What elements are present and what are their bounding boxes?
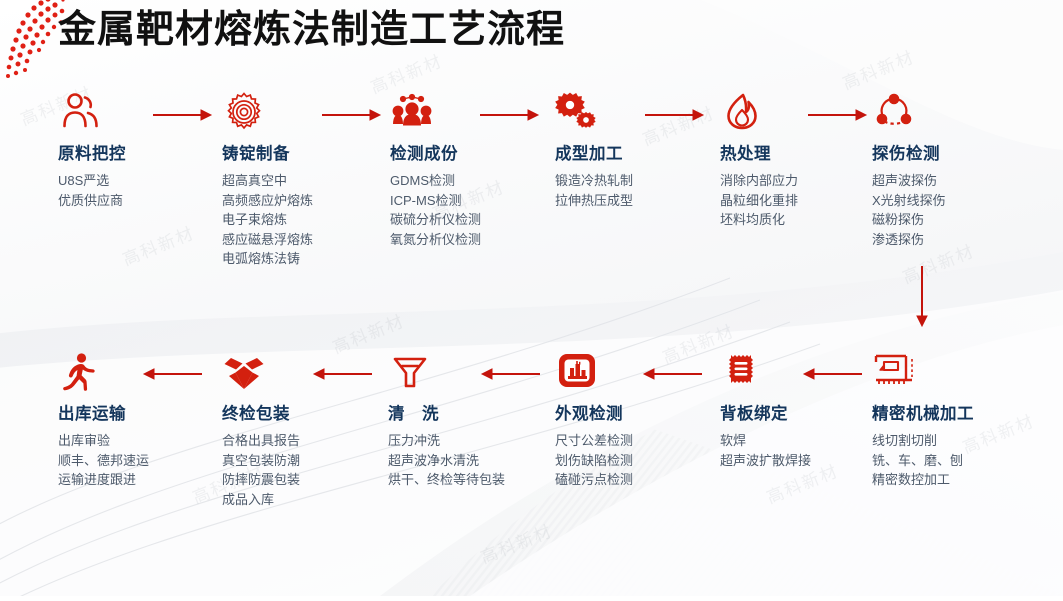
node-item-list: 超高真空中 高频感应炉熔炼 电子束熔炼 感应磁悬浮熔炼 电弧熔炼法铸 (222, 171, 374, 269)
list-item: 超声波探伤 (872, 171, 1022, 191)
users-icon (58, 90, 208, 134)
node-item-list: GDMS检测 ICP-MS检测 碳硫分析仪检测 氧氮分析仪检测 (390, 171, 540, 249)
node-item-list: 超声波探伤 X光射线探伤 磁粉探伤 渗透探伤 (872, 171, 1022, 249)
list-item: 合格出具报告 (222, 431, 372, 451)
flow-node-heat-treatment[interactable]: 热处理 消除内部应力 晶粒细化重排 坯料均质化 (720, 90, 870, 230)
list-item: 坯料均质化 (720, 210, 870, 230)
list-item: 晶粒细化重排 (720, 191, 870, 211)
list-item: 超声波净水清洗 (388, 451, 513, 471)
node-title: 外观检测 (555, 400, 705, 424)
page-title: 金属靶材熔炼法制造工艺流程 (58, 5, 565, 55)
list-item: ICP-MS检测 (390, 191, 540, 211)
node-item-list: 线切割切削 铣、车、磨、刨 精密数控加工 (872, 431, 1032, 490)
list-item: 磁粉探伤 (872, 210, 1022, 230)
list-item: 消除内部应力 (720, 171, 870, 191)
flow-node-final-inspection-packing[interactable]: 终检包装 合格出具报告 真空包装防潮 防摔防震包装 成品入库 (222, 350, 372, 509)
node-title: 铸锭制备 (222, 140, 374, 164)
list-item: 碳硫分析仪检测 (390, 210, 540, 230)
flow-node-backplate-bonding[interactable]: 背板绑定 软焊 超声波扩散焊接 (720, 350, 870, 470)
node-item-list: 锻造冷热轧制 拉伸热压成型 (555, 171, 705, 210)
list-item: 线切割切削 (872, 431, 1032, 451)
flow-node-cleaning[interactable]: 清 洗 压力冲洗 超声波净水清洗 烘干、终检等待包装 (388, 350, 513, 490)
node-title: 探伤检测 (872, 140, 1022, 164)
list-item: 高频感应炉熔炼 (222, 191, 374, 211)
node-item-list: 合格出具报告 真空包装防潮 防摔防震包装 成品入库 (222, 431, 372, 509)
flow-node-raw-material-control[interactable]: 原料把控 U8S严选 优质供应商 (58, 90, 208, 210)
list-item: 感应磁悬浮熔炼 (222, 230, 374, 250)
list-item: 运输进度跟进 (58, 470, 208, 490)
watermark: 高科新材 (838, 43, 918, 95)
three-dot-molecule-icon (872, 90, 1022, 134)
arrow-down-connector (915, 266, 929, 328)
list-item: 磕碰污点检测 (555, 470, 705, 490)
node-item-list: 压力冲洗 超声波净水清洗 烘干、终检等待包装 (388, 431, 513, 490)
stamp-icon (720, 350, 870, 394)
list-item: U8S严选 (58, 171, 208, 191)
list-item: 防摔防震包装 (222, 470, 372, 490)
list-item: 电子束熔炼 (222, 210, 374, 230)
node-item-list: 消除内部应力 晶粒细化重排 坯料均质化 (720, 171, 870, 230)
flow-node-ingot-preparation[interactable]: 铸锭制备 超高真空中 高频感应炉熔炼 电子束熔炼 感应磁悬浮熔炼 电弧熔炼法铸 (222, 90, 374, 269)
list-item: 顺丰、德邦速运 (58, 451, 208, 471)
list-item: 拉伸热压成型 (555, 191, 705, 211)
list-item: 划伤缺陷检测 (555, 451, 705, 471)
double-gear-icon (555, 90, 705, 134)
node-title: 原料把控 (58, 140, 208, 164)
flow-node-appearance-inspection[interactable]: 外观检测 尺寸公差检测 划伤缺陷检测 磕碰污点检测 (555, 350, 705, 490)
list-item: X光射线探伤 (872, 191, 1022, 211)
running-person-icon (58, 350, 208, 394)
node-title: 终检包装 (222, 400, 372, 424)
open-box-icon (222, 350, 372, 394)
flow-node-precision-machining[interactable]: 精密机械加工 线切割切削 铣、车、磨、刨 精密数控加工 (872, 350, 1032, 490)
flow-node-flaw-detection[interactable]: 探伤检测 超声波探伤 X光射线探伤 磁粉探伤 渗透探伤 (872, 90, 1022, 249)
list-item: 渗透探伤 (872, 230, 1022, 250)
flow-node-composition-test[interactable]: 检测成份 GDMS检测 ICP-MS检测 碳硫分析仪检测 氧氮分析仪检测 (390, 90, 540, 249)
list-item: 成品入库 (222, 490, 372, 510)
list-item: GDMS检测 (390, 171, 540, 191)
list-item: 优质供应商 (58, 191, 208, 211)
node-item-list: U8S严选 优质供应商 (58, 171, 208, 210)
funnel-icon (388, 350, 513, 394)
list-item: 超高真空中 (222, 171, 374, 191)
node-title: 出库运输 (58, 400, 208, 424)
node-item-list: 出库审验 顺丰、德邦速运 运输进度跟进 (58, 431, 208, 490)
list-item: 精密数控加工 (872, 470, 1032, 490)
node-title: 热处理 (720, 140, 870, 164)
list-item: 真空包装防潮 (222, 451, 372, 471)
list-item: 超声波扩散焊接 (720, 451, 870, 471)
flow-node-outbound-transport[interactable]: 出库运输 出库审验 顺丰、德邦速运 运输进度跟进 (58, 350, 208, 490)
flame-icon (720, 90, 870, 134)
node-title: 精密机械加工 (872, 400, 1032, 424)
list-item: 压力冲洗 (388, 431, 513, 451)
list-item: 氧氮分析仪检测 (390, 230, 540, 250)
list-item: 出库审验 (58, 431, 208, 451)
list-item: 软焊 (720, 431, 870, 451)
list-item: 铣、车、磨、刨 (872, 451, 1032, 471)
list-item: 电弧熔炼法铸 (222, 249, 374, 269)
node-title: 清 洗 (388, 400, 513, 424)
node-title: 检测成份 (390, 140, 540, 164)
node-item-list: 软焊 超声波扩散焊接 (720, 431, 870, 470)
node-title: 成型加工 (555, 140, 705, 164)
list-item: 尺寸公差检测 (555, 431, 705, 451)
molecule-group-icon (390, 90, 540, 134)
list-item: 烘干、终检等待包装 (388, 470, 513, 490)
list-item: 锻造冷热轧制 (555, 171, 705, 191)
machine-tool-icon (872, 350, 1032, 394)
node-title: 背板绑定 (720, 400, 870, 424)
inspection-box-icon (555, 350, 705, 394)
flow-node-forming-processing[interactable]: 成型加工 锻造冷热轧制 拉伸热压成型 (555, 90, 705, 210)
watermark: 高科新材 (476, 517, 556, 569)
watermark: 高科新材 (118, 219, 198, 271)
node-item-list: 尺寸公差检测 划伤缺陷检测 磕碰污点检测 (555, 431, 705, 490)
gear-icon (222, 90, 374, 134)
